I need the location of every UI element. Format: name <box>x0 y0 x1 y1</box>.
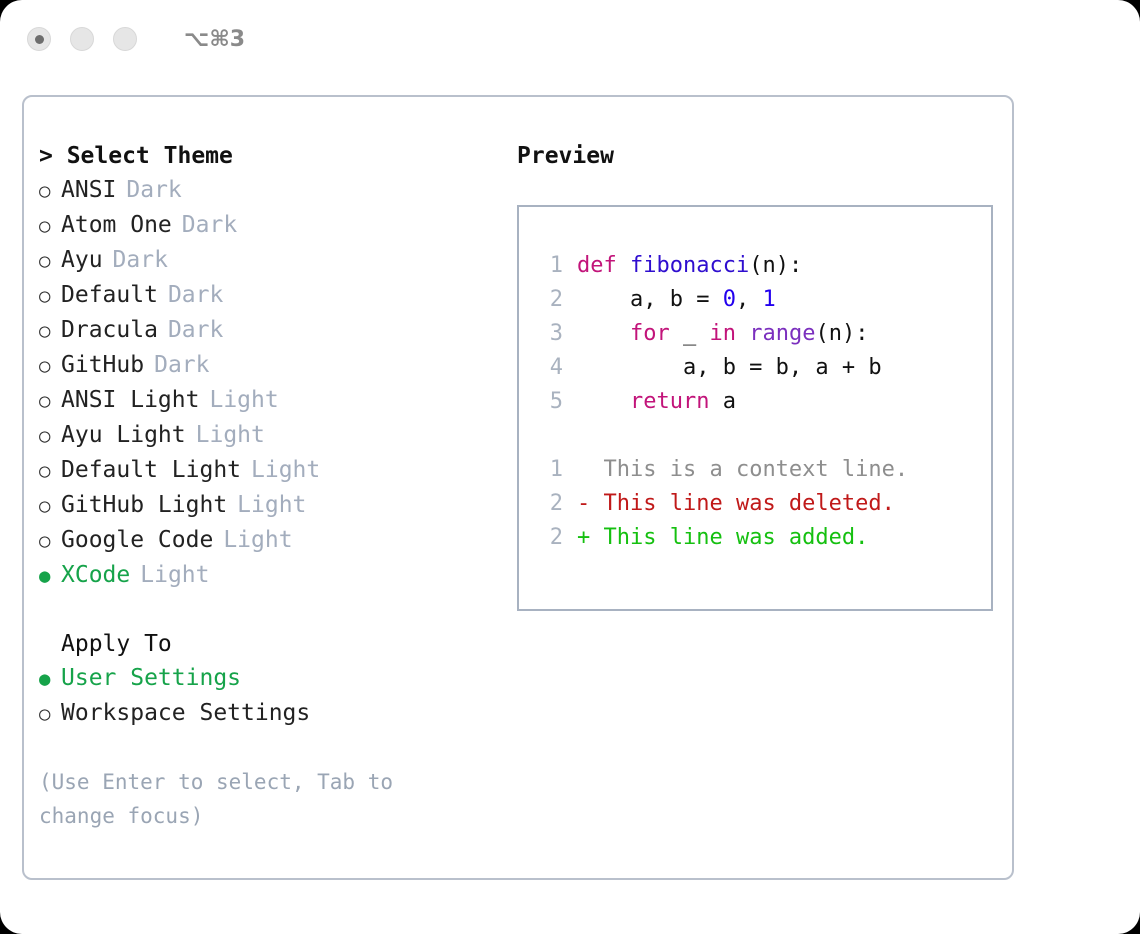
code-token-number: 1 <box>762 283 775 317</box>
traffic-light-minimize-icon[interactable] <box>70 27 94 51</box>
radio-icon[interactable]: ○ <box>39 349 61 383</box>
theme-option-row[interactable]: ○ Ayu Light Light <box>39 418 494 453</box>
theme-option-tag: Light <box>140 558 209 592</box>
theme-option-label: ANSI Light <box>61 383 199 417</box>
terminal-window: ⌥⌘3 > Select Theme ○ ANSI Dark ○ Atom On… <box>0 0 1140 934</box>
diff-marker: + <box>577 521 604 555</box>
code-token-plain: a <box>709 385 736 419</box>
apply-to-option-list: ● User Settings ○ Workspace Settings <box>39 661 494 731</box>
diff-marker: - <box>577 487 604 521</box>
code-token-plain: (n): <box>749 249 802 283</box>
code-token-builtin: range <box>749 317 815 351</box>
line-number: 2 <box>533 521 563 555</box>
line-number: 4 <box>533 351 563 385</box>
theme-option-label: ANSI <box>61 173 116 207</box>
code-token-keyword: for <box>630 317 670 351</box>
traffic-light-group <box>27 27 137 51</box>
diff-text: This is a context line. <box>604 453 909 487</box>
diff-line-context: 1 This is a context line. <box>533 453 991 487</box>
theme-option-row[interactable]: ○ Atom One Dark <box>39 208 494 243</box>
theme-option-tag: Light <box>223 523 292 557</box>
code-token-plain: a, b = <box>577 283 723 317</box>
code-token-keyword: def <box>577 249 630 283</box>
radio-icon[interactable]: ○ <box>39 209 61 243</box>
preview-pane: Preview 1 def fibonacci(n): 2 a, b = 0, … <box>494 139 1012 878</box>
line-number: 2 <box>533 283 563 317</box>
theme-picker-card: > Select Theme ○ ANSI Dark ○ Atom One Da… <box>22 95 1014 880</box>
code-token-plain <box>577 317 630 351</box>
diff-text: This line was deleted. <box>604 487 895 521</box>
theme-option-label: Google Code <box>61 523 213 557</box>
radio-icon-selected[interactable]: ● <box>39 662 61 696</box>
code-token-function: fibonacci <box>630 249 749 283</box>
spacer <box>39 593 494 627</box>
code-line: 2 a, b = 0, 1 <box>533 283 991 317</box>
theme-option-label: Default <box>61 278 158 312</box>
diff-marker <box>577 453 604 487</box>
radio-icon[interactable]: ○ <box>39 279 61 313</box>
code-token-plain <box>736 317 749 351</box>
theme-option-tag: Dark <box>168 278 223 312</box>
theme-option-row[interactable]: ○ ANSI Light Light <box>39 383 494 418</box>
theme-option-row[interactable]: ○ Default Light Light <box>39 453 494 488</box>
code-token-plain: (n): <box>815 317 868 351</box>
preview-heading: Preview <box>517 139 1012 173</box>
theme-option-tag: Dark <box>182 208 237 242</box>
radio-icon[interactable]: ○ <box>39 244 61 278</box>
traffic-light-maximize-icon[interactable] <box>113 27 137 51</box>
theme-option-label: Dracula <box>61 313 158 347</box>
keyboard-hint-text: (Use Enter to select, Tab to change focu… <box>39 765 439 833</box>
radio-icon[interactable]: ○ <box>39 489 61 523</box>
apply-to-option-label: User Settings <box>61 661 241 695</box>
diff-line-added: 2 + This line was added. <box>533 521 991 555</box>
traffic-light-close-icon[interactable] <box>27 27 51 51</box>
code-token-plain: _ <box>670 317 710 351</box>
code-token-plain: a, b = b, a + b <box>577 351 882 385</box>
diff-text: This line was added. <box>604 521 869 555</box>
theme-option-tag: Light <box>237 488 306 522</box>
window-title: ⌥⌘3 <box>184 27 245 52</box>
theme-option-row[interactable]: ○ Default Dark <box>39 278 494 313</box>
theme-option-row[interactable]: ○ ANSI Dark <box>39 173 494 208</box>
line-number: 3 <box>533 317 563 351</box>
line-number: 1 <box>533 453 563 487</box>
theme-option-tag: Dark <box>113 243 168 277</box>
theme-option-row[interactable]: ○ GitHub Light Light <box>39 488 494 523</box>
theme-option-row[interactable]: ○ Google Code Light <box>39 523 494 558</box>
theme-option-row-selected[interactable]: ● XCode Light <box>39 558 494 593</box>
spacer <box>533 419 991 453</box>
radio-icon-selected[interactable]: ● <box>39 559 61 593</box>
radio-icon[interactable]: ○ <box>39 174 61 208</box>
apply-to-option-user-settings[interactable]: ● User Settings <box>39 661 494 696</box>
theme-option-label: Atom One <box>61 208 172 242</box>
line-number: 5 <box>533 385 563 419</box>
line-number: 2 <box>533 487 563 521</box>
code-line: 5 return a <box>533 385 991 419</box>
diff-line-deleted: 2 - This line was deleted. <box>533 487 991 521</box>
theme-option-label: GitHub <box>61 348 144 382</box>
radio-icon[interactable]: ○ <box>39 384 61 418</box>
theme-option-tag: Light <box>209 383 278 417</box>
theme-option-tag: Light <box>196 418 265 452</box>
theme-option-row[interactable]: ○ Dracula Dark <box>39 313 494 348</box>
line-number: 1 <box>533 249 563 283</box>
apply-to-heading: Apply To <box>39 627 494 661</box>
code-token-keyword: in <box>709 317 736 351</box>
code-line: 3 for _ in range(n): <box>533 317 991 351</box>
code-token-number: 0 <box>723 283 736 317</box>
radio-icon[interactable]: ○ <box>39 419 61 453</box>
theme-selection-pane: > Select Theme ○ ANSI Dark ○ Atom One Da… <box>24 139 494 878</box>
theme-option-tag: Light <box>251 453 320 487</box>
theme-option-row[interactable]: ○ GitHub Dark <box>39 348 494 383</box>
code-token-plain <box>577 385 630 419</box>
code-token-keyword: return <box>630 385 709 419</box>
select-theme-heading: > Select Theme <box>39 139 494 173</box>
theme-option-label: XCode <box>61 558 130 592</box>
code-line: 4 a, b = b, a + b <box>533 351 991 385</box>
title-bar: ⌥⌘3 <box>0 0 1140 78</box>
theme-option-row[interactable]: ○ Ayu Dark <box>39 243 494 278</box>
theme-option-label: Ayu Light <box>61 418 186 452</box>
theme-option-label: Ayu <box>61 243 103 277</box>
apply-to-option-label: Workspace Settings <box>61 696 310 730</box>
radio-icon[interactable]: ○ <box>39 314 61 348</box>
apply-to-option-workspace-settings[interactable]: ○ Workspace Settings <box>39 696 494 731</box>
code-line: 1 def fibonacci(n): <box>533 249 991 283</box>
theme-option-tag: Dark <box>126 173 181 207</box>
theme-option-tag: Dark <box>168 313 223 347</box>
code-token-plain: , <box>736 283 763 317</box>
preview-code-box: 1 def fibonacci(n): 2 a, b = 0, 1 3 for … <box>517 205 993 611</box>
theme-option-tag: Dark <box>154 348 209 382</box>
theme-option-label: GitHub Light <box>61 488 227 522</box>
theme-option-label: Default Light <box>61 453 241 487</box>
radio-icon[interactable]: ○ <box>39 697 61 731</box>
theme-option-list: ○ ANSI Dark ○ Atom One Dark ○ Ayu Dark <box>39 173 494 593</box>
radio-icon[interactable]: ○ <box>39 454 61 488</box>
radio-icon[interactable]: ○ <box>39 524 61 558</box>
